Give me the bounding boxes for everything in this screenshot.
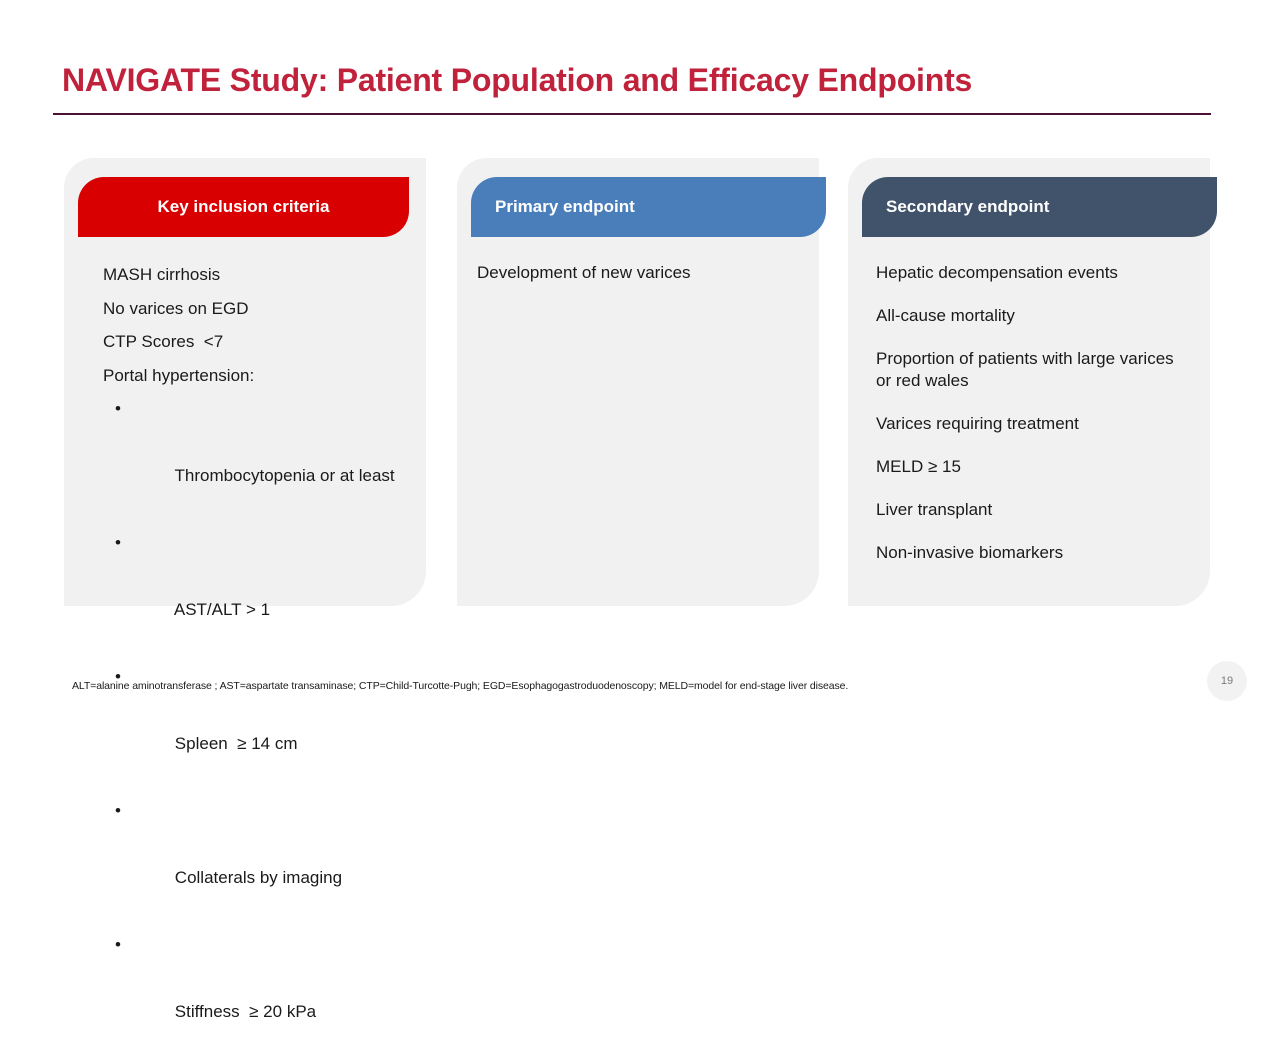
criteria-bullet-label: Collaterals by imaging — [175, 868, 342, 887]
bullet-dot-icon: • — [115, 392, 121, 426]
card-header-label: Primary endpoint — [495, 197, 635, 217]
card-body-primary-endpoint: Development of new varices — [477, 262, 801, 305]
card-header-label: Secondary endpoint — [886, 197, 1049, 217]
card-header-key-inclusion-criteria: Key inclusion criteria — [78, 177, 409, 237]
criteria-bullet-label: AST/ALT > 1 — [174, 600, 270, 619]
card-header-secondary-endpoint: Secondary endpoint — [862, 177, 1217, 237]
card-header-primary-endpoint: Primary endpoint — [471, 177, 826, 237]
endpoint-item: MELD ≥ 15 — [876, 456, 1186, 478]
endpoint-item: Hepatic decompensation events — [876, 262, 1186, 284]
card-secondary-endpoint: Secondary endpoint Hepatic decompensatio… — [848, 158, 1210, 606]
endpoint-item: Non-invasive biomarkers — [876, 542, 1186, 564]
criteria-item: Portal hypertension: — [88, 359, 408, 393]
endpoint-item: Proportion of patients with large varice… — [876, 348, 1186, 392]
card-key-inclusion-criteria: Key inclusion criteria MASH cirrhosis No… — [64, 158, 426, 606]
criteria-bullet-label: Stiffness ≥ 20 kPa — [175, 1002, 316, 1021]
card-body-key-inclusion-criteria: MASH cirrhosis No varices on EGD CTP Sco… — [88, 258, 408, 1062]
criteria-bullet-label: Spleen ≥ 14 cm — [175, 734, 298, 753]
page-number-label: 19 — [1221, 675, 1233, 687]
bullet-dot-icon: • — [115, 526, 121, 560]
criteria-item: MASH cirrhosis — [88, 258, 408, 292]
card-header-label: Key inclusion criteria — [158, 197, 330, 217]
content-columns: Key inclusion criteria MASH cirrhosis No… — [64, 158, 1212, 606]
criteria-bullet-item: • Stiffness ≥ 20 kPa — [88, 928, 408, 1062]
endpoint-item: All-cause mortality — [876, 305, 1186, 327]
title-divider — [53, 113, 1211, 115]
endpoint-item: Liver transplant — [876, 499, 1186, 521]
page-number-badge: 19 — [1207, 661, 1247, 701]
abbreviations-footnote: ALT=alanine aminotransferase ; AST=aspar… — [72, 680, 848, 692]
page-title: NAVIGATE Study: Patient Population and E… — [62, 62, 1222, 99]
criteria-bullet-item: • Thrombocytopenia or at least — [88, 392, 408, 526]
bullet-dot-icon: • — [115, 928, 121, 962]
criteria-bullet-item: • AST/ALT > 1 — [88, 526, 408, 660]
card-primary-endpoint: Primary endpoint Development of new vari… — [457, 158, 819, 606]
criteria-bullet-item: • Collaterals by imaging — [88, 794, 408, 928]
criteria-item: CTP Scores <7 — [88, 325, 408, 359]
endpoint-item: Varices requiring treatment — [876, 413, 1186, 435]
criteria-bullet-label: Thrombocytopenia or at least — [174, 466, 394, 485]
card-body-secondary-endpoint: Hepatic decompensation events All-cause … — [876, 262, 1186, 585]
bullet-dot-icon: • — [115, 794, 121, 828]
criteria-item: No varices on EGD — [88, 292, 408, 326]
endpoint-item: Development of new varices — [477, 262, 801, 284]
